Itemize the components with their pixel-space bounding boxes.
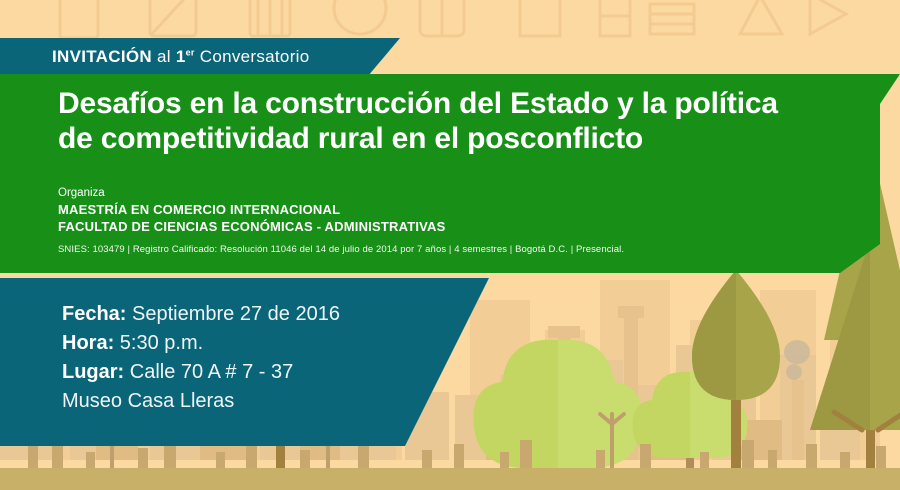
- invitation-banner-text: INVITACIÓN al 1er Conversatorio: [0, 47, 309, 67]
- organizer-faculty: FACULTAD DE CIENCIAS ECONÓMICAS - ADMINI…: [58, 219, 624, 236]
- event-date-value: Septiembre 27 de 2016: [126, 303, 340, 325]
- event-time-label: Hora:: [62, 332, 114, 354]
- event-place-line: Lugar: Calle 70 A # 7 - 37: [62, 358, 340, 387]
- title-line-1: Desafíos en la construcción del Estado y…: [58, 86, 848, 121]
- ordinal-digit: 1: [176, 47, 186, 66]
- ordinal-superscript: er: [186, 47, 195, 57]
- event-invitation-poster: INVITACIÓN al 1er Conversatorio Desafíos…: [0, 0, 900, 490]
- organizer-program: MAESTRÍA EN COMERCIO INTERNACIONAL: [58, 202, 624, 219]
- snies-registration-text: SNIES: 103479 | Registro Calificado: Res…: [58, 243, 624, 256]
- event-type-label: Conversatorio: [195, 47, 310, 66]
- page-title: Desafíos en la construcción del Estado y…: [58, 86, 848, 156]
- event-venue-name: Museo Casa Lleras: [62, 387, 340, 416]
- ground-strip: [0, 468, 900, 490]
- event-place-value: Calle 70 A # 7 - 37: [124, 361, 293, 383]
- title-line-2: de competitividad rural en el posconflic…: [58, 121, 848, 156]
- invitation-word: INVITACIÓN: [52, 47, 152, 66]
- event-place-label: Lugar:: [62, 361, 124, 383]
- ordinal-number: 1er: [176, 47, 195, 66]
- invitation-connector: al: [152, 47, 176, 66]
- invitation-banner: INVITACIÓN al 1er Conversatorio: [0, 38, 400, 76]
- event-details-block: Fecha: Septiembre 27 de 2016 Hora: 5:30 …: [62, 300, 340, 416]
- organizer-block: Organiza MAESTRÍA EN COMERCIO INTERNACIO…: [58, 186, 624, 256]
- organizer-label: Organiza: [58, 186, 624, 201]
- event-time-value: 5:30 p.m.: [114, 332, 203, 354]
- event-time-line: Hora: 5:30 p.m.: [62, 329, 340, 358]
- event-date-line: Fecha: Septiembre 27 de 2016: [62, 300, 340, 329]
- event-date-label: Fecha:: [62, 303, 126, 325]
